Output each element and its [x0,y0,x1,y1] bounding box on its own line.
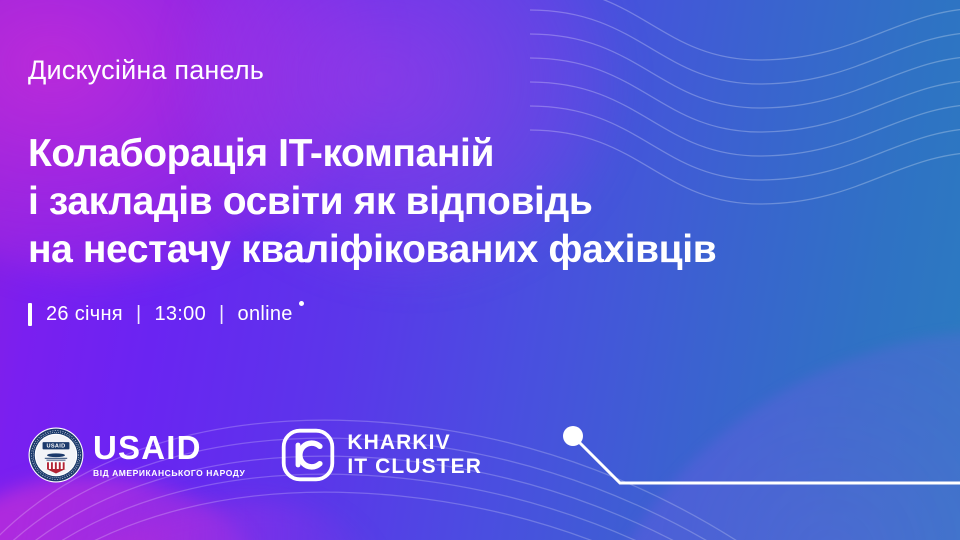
usaid-name: USAID [93,431,245,464]
kharkiv-it-cluster-logo[interactable]: KHARKIV IT CLUSTER [281,424,482,486]
kic-wordmark: KHARKIV IT CLUSTER [347,431,482,479]
event-format: online [238,303,293,325]
usaid-logo[interactable]: USAID [28,424,245,486]
event-headline: Колаборація IT-компаній і закладів освіт… [28,130,716,274]
kic-monogram-icon [281,428,335,482]
headline-line-3: на нестачу кваліфікованих фахівців [28,226,716,274]
logo-row: USAID [28,424,482,486]
usaid-wordmark: USAID ВІД АМЕРИКАНСЬКОГО НАРОДУ [93,431,245,479]
headline-line-2: і закладів освіти як відповідь [28,178,716,226]
event-format-wrap: online [238,303,293,326]
event-date: 26 січня [46,303,123,326]
event-banner: Дискусійна панель Колаборація IT-компані… [0,0,960,540]
online-dot-icon [299,301,304,306]
meta-accent-bar [28,303,32,326]
event-meta: 26 січня | 13:00 | online [28,303,293,326]
kic-line-1: KHARKIV [347,431,482,455]
headline-line-1: Колаборація IT-компаній [28,130,716,178]
usaid-tagline: ВІД АМЕРИКАНСЬКОГО НАРОДУ [93,467,245,479]
event-kicker: Дискусійна панель [28,54,264,86]
event-time: 13:00 [154,303,206,326]
meta-separator-1: | [136,303,142,326]
svg-text:USAID: USAID [46,444,65,450]
usaid-seal-icon: USAID [28,427,84,483]
kic-line-2: IT CLUSTER [347,455,482,479]
meta-separator-2: | [219,303,225,326]
